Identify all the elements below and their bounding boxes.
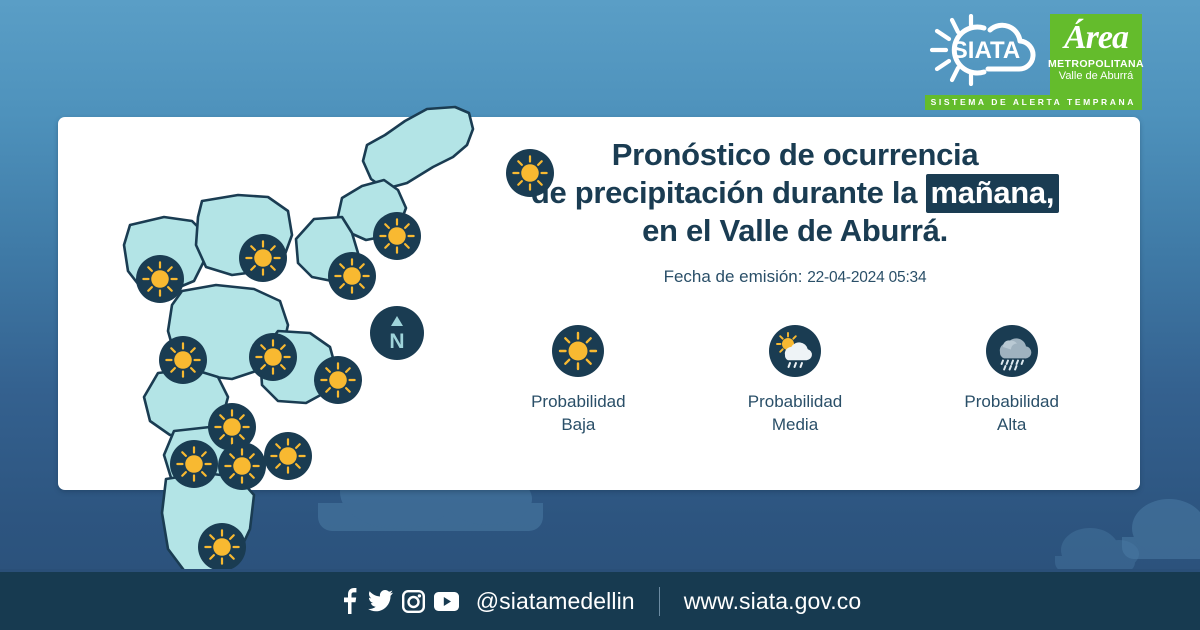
marker-san-pedro [136, 255, 184, 303]
instagram-icon[interactable] [402, 590, 425, 613]
marker-caldas-n [218, 442, 266, 490]
legend-item-baja: Probabilidad Baja [470, 325, 687, 436]
compass-label: N [389, 330, 404, 353]
marker-itagui [159, 336, 207, 384]
title-highlight: mañana, [926, 174, 1060, 213]
marker-caldas-s [198, 523, 246, 571]
area-logo-sub2: Valle de Aburrá [1059, 70, 1133, 83]
area-logo-sub1: METROPOLITANA [1048, 58, 1144, 70]
emission-value: 22-04-2024 05:34 [807, 269, 926, 286]
social-handle[interactable]: @siatamedellin [476, 588, 635, 615]
legend-label-media: Probabilidad Media [748, 390, 843, 436]
marker-caldas-e [264, 432, 312, 480]
siata-tagline: SISTEMA DE ALERTA TEMPRANA [925, 95, 1142, 110]
legend-label-line2: Media [772, 415, 818, 434]
forecast-content: Pronóstico de ocurrencia de precipitació… [470, 136, 1120, 287]
legend-item-media: Probabilidad Media [687, 325, 904, 436]
sun-cloud-rain-icon [769, 325, 821, 377]
website-url[interactable]: www.siata.gov.co [684, 588, 862, 615]
legend-label-baja: Probabilidad Baja [531, 390, 626, 436]
compass-north-icon: N [370, 306, 424, 360]
title-line-2: de precipitación durante la [531, 175, 926, 210]
social-links [339, 588, 459, 614]
marker-la-estrella [170, 440, 218, 488]
map-region-barbosa [363, 107, 473, 189]
valle-de-aburra-map: N [62, 55, 482, 575]
title-line-1: Pronóstico de ocurrencia [612, 137, 979, 172]
page-title: Pronóstico de ocurrencia de precipitació… [470, 136, 1120, 250]
footer-bar: @siatamedellin www.siata.gov.co [0, 572, 1200, 630]
marker-girardota [373, 212, 421, 260]
marker-copacabana [328, 252, 376, 300]
legend-label-line2: Alta [997, 415, 1026, 434]
probability-legend: Probabilidad Baja [470, 325, 1120, 436]
marker-medellin [249, 333, 297, 381]
marker-envigado [314, 356, 362, 404]
marker-bello [239, 234, 287, 282]
facebook-icon[interactable] [339, 588, 359, 614]
cloud-heavy-rain-icon [986, 325, 1038, 377]
footer-separator [659, 587, 660, 616]
youtube-icon[interactable] [434, 592, 459, 611]
siata-logo-text: SIATA [952, 37, 1020, 64]
legend-item-alta: Probabilidad Alta [903, 325, 1120, 436]
legend-label-alta: Probabilidad Alta [964, 390, 1059, 436]
legend-label-line2: Baja [561, 415, 595, 434]
legend-label-line1: Probabilidad [531, 392, 626, 411]
legend-label-line1: Probabilidad [964, 392, 1059, 411]
siata-logo: SIATA [924, 14, 1042, 86]
area-metropolitana-logo: Área METROPOLITANA Valle de Aburrá [1050, 14, 1142, 96]
emission-date: Fecha de emisión: 22-04-2024 05:34 [470, 267, 1120, 287]
sun-icon [552, 325, 604, 377]
twitter-icon[interactable] [368, 590, 393, 612]
title-line-3: en el Valle de Aburrá. [642, 213, 948, 248]
header-logos: SIATA Área METROPOLITANA Valle de Aburrá [924, 14, 1142, 96]
emission-label: Fecha de emisión: [664, 267, 803, 286]
area-logo-word: Área [1064, 18, 1128, 58]
legend-label-line1: Probabilidad [748, 392, 843, 411]
